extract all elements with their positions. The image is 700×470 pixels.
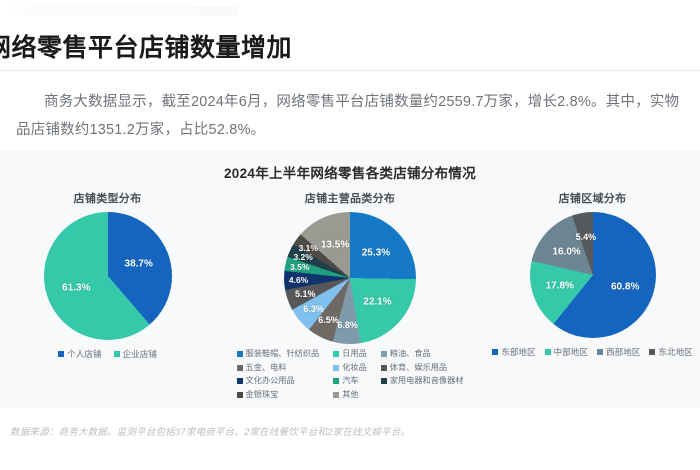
pie-slice-label: 5.1% [295,289,316,299]
legend-swatch [381,365,387,371]
legend-item[interactable]: 东北地区 [649,346,692,358]
legend-swatch [381,378,387,384]
chart-title-region: 店铺区域分布 [485,190,700,206]
pie-chart-region: 60.8%17.8%16.0%5.4% [530,212,656,338]
legend-label: 日用品 [342,348,367,361]
pie-slice-label: 60.8% [611,281,639,292]
pie-slice-label: 5.4% [576,232,597,242]
legend-item[interactable]: 中部地区 [545,346,588,358]
pie-slice-label: 3.5% [290,262,309,272]
legend-label: 粮油、食品 [390,348,431,361]
charts-card-title: 2024年上半年网络零售各类店铺分布情况 [0,162,700,182]
pie-slice-label: 6.3% [303,304,324,314]
legend-column: 日用品化妆品汽车其他 [333,348,367,401]
legend-item[interactable]: 家用电器和音像器材 [381,375,464,388]
legend-label: 金银珠宝 [246,389,279,402]
legend-item[interactable]: 汽车 [333,375,367,388]
legend-item[interactable]: 东部地区 [492,346,535,358]
legend-label: 体育、娱乐用品 [390,362,447,375]
legend-label: 企业店铺 [123,348,157,360]
legend-label: 汽车 [342,375,358,388]
legend-swatch [649,349,655,355]
page-title: 网络零售平台店铺数量增加 [0,28,292,64]
legend-label: 化妆品 [342,362,367,375]
legend-swatch [237,365,243,371]
legend-swatch [333,392,339,398]
legend-label: 中部地区 [554,346,588,358]
pie-slice-label: 61.3% [62,282,90,293]
legend-item[interactable]: 金银珠宝 [237,389,320,402]
legend-item[interactable]: 企业店铺 [114,348,157,360]
chart-panel-store-type: 店铺类型分布 38.7%61.3% 个人店铺企业店铺 [0,190,215,360]
pie-slice-label: 13.5% [321,239,349,250]
legend-swatch [237,351,243,357]
legend-item[interactable]: 日用品 [333,348,367,361]
legend-item[interactable]: 其他 [333,389,367,402]
header-divider [0,70,700,71]
pie-chart-store-type: 38.7%61.3% [44,212,172,340]
chart-panel-region: 店铺区域分布 60.8%17.8%16.0%5.4% 东部地区中部地区西部地区东… [485,190,700,358]
pie-slice-label: 38.7% [125,259,153,270]
chart-title-store-type: 店铺类型分布 [0,190,215,206]
chart-title-category: 店铺主营品类分布 [215,190,485,206]
legend-label: 服装鞋帽、针纺织品 [246,348,320,361]
legend-label: 文化办公用品 [246,375,295,388]
legend-column: 粮油、食品体育、娱乐用品家用电器和音像器材 [381,348,464,401]
legend-item[interactable]: 五金、电料 [237,362,320,375]
pie-slice-label: 4.6% [289,275,308,285]
legend-item[interactable]: 粮油、食品 [381,348,464,361]
report-page: 网络零售平台店铺数量增加 商务大数据显示，截至2024年6月，网络零售平台店铺数… [0,0,700,470]
pie-slice-label: 6.8% [337,320,358,330]
data-source-note: 数据来源：商务大数据。监测平台包括37家电商平台、2家在线餐饮平台和2家在线文娱… [10,424,410,438]
legend-swatch [492,349,498,355]
legend-item[interactable]: 个人店铺 [58,348,101,360]
legend-label: 西部地区 [606,346,640,358]
pie-chart-category: 25.3%22.1%6.8%6.5%6.3%5.1%4.6%3.5%3.2%3.… [284,212,416,344]
legend-item[interactable]: 化妆品 [333,362,367,375]
legend-swatch [114,351,120,357]
legend-label: 五金、电料 [246,362,287,375]
legend-swatch [545,349,551,355]
legend-swatch [333,351,339,357]
pie-slice-label: 17.8% [546,281,574,292]
legend-item[interactable]: 文化办公用品 [237,375,320,388]
legend-label: 东北地区 [658,346,692,358]
legend-swatch [58,351,64,357]
legend-label: 个人店铺 [67,348,101,360]
legend-swatch [333,365,339,371]
chart-panel-category: 店铺主营品类分布 25.3%22.1%6.8%6.5%6.3%5.1%4.6%3… [215,190,485,401]
legend-swatch [333,378,339,384]
legend-swatch [381,351,387,357]
pie-slice-label: 3.1% [299,243,318,253]
legend-label: 家用电器和音像器材 [390,375,464,388]
top-decoration [8,6,238,16]
legend-region: 东部地区中部地区西部地区东北地区 [485,346,700,358]
legend-label: 东部地区 [501,346,535,358]
legend-swatch [237,378,243,384]
intro-paragraph: 商务大数据显示，截至2024年6月，网络零售平台店铺数量约2559.7万家，增长… [16,88,690,144]
legend-item[interactable]: 服装鞋帽、针纺织品 [237,348,320,361]
pie-slice-label: 16.0% [552,246,580,257]
legend-item[interactable]: 体育、娱乐用品 [381,362,464,375]
legend-category: 服装鞋帽、针纺织品五金、电料文化办公用品金银珠宝日用品化妆品汽车其他粮油、食品体… [215,348,485,401]
pie-slice-label: 22.1% [363,296,391,307]
pie-slices [44,212,172,340]
pie-slice-label: 3.2% [293,252,312,262]
legend-item[interactable]: 西部地区 [597,346,640,358]
pie-slice-label: 25.3% [362,247,390,258]
legend-swatch [597,349,603,355]
legend-store-type: 个人店铺企业店铺 [0,348,215,360]
legend-column: 服装鞋帽、针纺织品五金、电料文化办公用品金银珠宝 [237,348,320,401]
legend-swatch [237,392,243,398]
pie-slice-label: 6.5% [318,315,339,325]
charts-card: 2024年上半年网络零售各类店铺分布情况 店铺类型分布 38.7%61.3% 个… [0,150,700,408]
legend-label: 其他 [342,389,358,402]
